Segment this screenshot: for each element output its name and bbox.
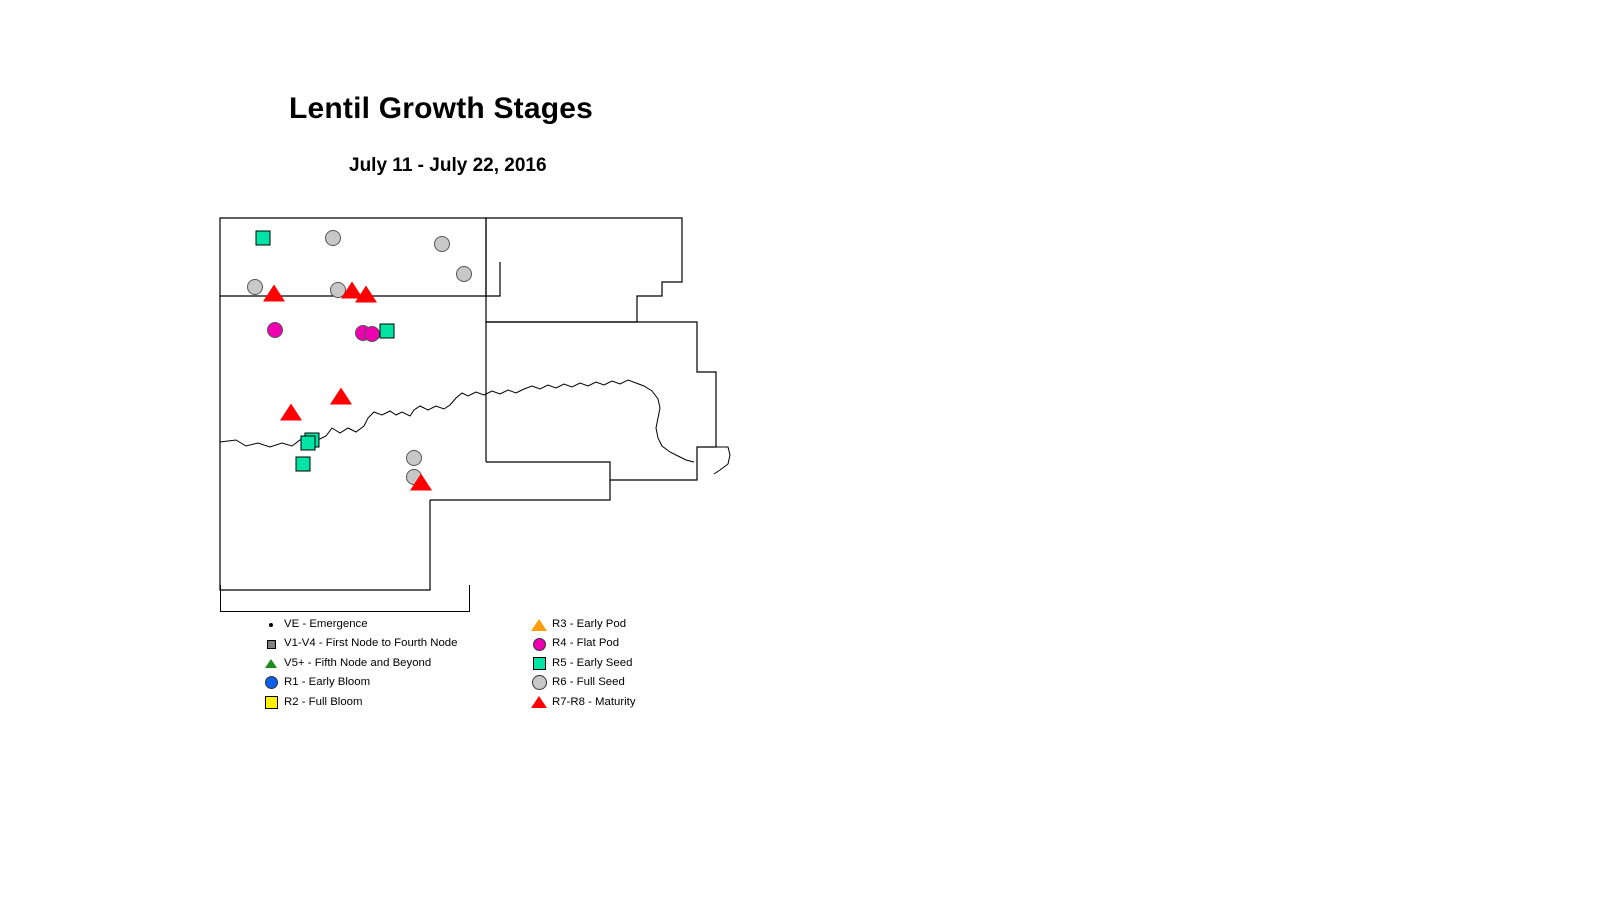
boundary-east-notch	[714, 447, 730, 474]
legend-item[interactable]: R4 - Flat Pod	[526, 634, 636, 653]
red-triangle-marker	[526, 696, 552, 708]
data-point-circle[interactable]	[364, 326, 380, 342]
gray-circle-marker-glyph	[532, 675, 547, 690]
legend-frame	[220, 585, 470, 612]
gray-square-marker	[258, 640, 284, 649]
legend-item[interactable]: R1 - Early Bloom	[258, 673, 457, 692]
legend-item[interactable]: R2 - Full Bloom	[258, 693, 457, 712]
map-canvas	[200, 200, 760, 620]
orange-triangle-marker-glyph	[531, 619, 547, 631]
legend-item[interactable]: R7-R8 - Maturity	[526, 693, 636, 712]
legend-item[interactable]: R5 - Early Seed	[526, 654, 636, 673]
blue-circle-marker-glyph	[265, 676, 278, 689]
boundary-northeast-county	[486, 218, 682, 322]
legend-item-label: V1-V4 - First Node to Fourth Node	[284, 638, 457, 649]
blue-circle-marker	[258, 676, 284, 689]
data-point-circle[interactable]	[325, 230, 341, 246]
green-triangle-marker-glyph	[265, 659, 277, 668]
data-point-triangle[interactable]	[330, 388, 352, 405]
legend-column-left: VE - EmergenceV1-V4 - First Node to Four…	[258, 615, 457, 712]
legend-column-right: R3 - Early PodR4 - Flat PodR5 - Early Se…	[526, 615, 636, 712]
legend: VE - EmergenceV1-V4 - First Node to Four…	[220, 585, 680, 720]
boundary-connector-north	[486, 262, 500, 296]
page-title: Lentil Growth Stages	[289, 92, 593, 126]
magenta-circle-marker-glyph	[533, 638, 546, 651]
legend-item[interactable]: VE - Emergence	[258, 615, 457, 634]
orange-triangle-marker	[526, 619, 552, 631]
small-dot-marker-glyph	[269, 623, 273, 627]
gray-circle-marker	[526, 675, 552, 690]
legend-item[interactable]: V1-V4 - First Node to Fourth Node	[258, 634, 457, 653]
data-point-triangle[interactable]	[263, 285, 285, 302]
green-triangle-marker	[258, 659, 284, 668]
legend-item-label: R6 - Full Seed	[552, 677, 625, 688]
small-dot-marker	[258, 623, 284, 627]
yellow-square-marker	[258, 696, 284, 709]
gray-square-marker-glyph	[267, 640, 276, 649]
legend-item-label: R7-R8 - Maturity	[552, 697, 636, 708]
legend-item-label: R3 - Early Pod	[552, 619, 626, 630]
boundary-south-step	[430, 480, 610, 500]
legend-item[interactable]: V5+ - Fifth Node and Beyond	[258, 654, 457, 673]
data-point-triangle[interactable]	[410, 474, 432, 491]
figure-subtitle: July 11 - July 22, 2016	[349, 155, 547, 177]
legend-item[interactable]: R6 - Full Seed	[526, 673, 636, 692]
legend-item-label: VE - Emergence	[284, 619, 368, 630]
data-point-triangle[interactable]	[280, 404, 302, 421]
legend-item-label: R5 - Early Seed	[552, 658, 632, 669]
data-point-square[interactable]	[380, 324, 395, 339]
data-point-circle[interactable]	[406, 450, 422, 466]
boundary-southwest-edge	[220, 296, 430, 590]
legend-item-label: V5+ - Fifth Node and Beyond	[284, 658, 431, 669]
river-boundary-line	[220, 380, 694, 462]
red-triangle-marker-glyph	[531, 696, 547, 708]
data-point-triangle[interactable]	[355, 286, 377, 303]
data-point-square[interactable]	[256, 231, 271, 246]
data-point-circle[interactable]	[456, 266, 472, 282]
data-point-circle[interactable]	[267, 322, 283, 338]
legend-item-label: R4 - Flat Pod	[552, 638, 619, 649]
data-point-square[interactable]	[296, 457, 311, 472]
legend-item[interactable]: R3 - Early Pod	[526, 615, 636, 634]
green-square-marker-glyph	[533, 657, 546, 670]
yellow-square-marker-glyph	[265, 696, 278, 709]
lentil-growth-stages-figure: Lentil Growth Stages July 11 - July 22, …	[0, 0, 1612, 900]
legend-item-label: R1 - Early Bloom	[284, 677, 370, 688]
green-square-marker	[526, 657, 552, 670]
legend-item-label: R2 - Full Bloom	[284, 697, 363, 708]
data-point-circle[interactable]	[247, 279, 263, 295]
data-point-square[interactable]	[301, 436, 316, 451]
data-point-circle[interactable]	[434, 236, 450, 252]
magenta-circle-marker	[526, 638, 552, 651]
boundary-east-mid-county	[486, 322, 716, 480]
